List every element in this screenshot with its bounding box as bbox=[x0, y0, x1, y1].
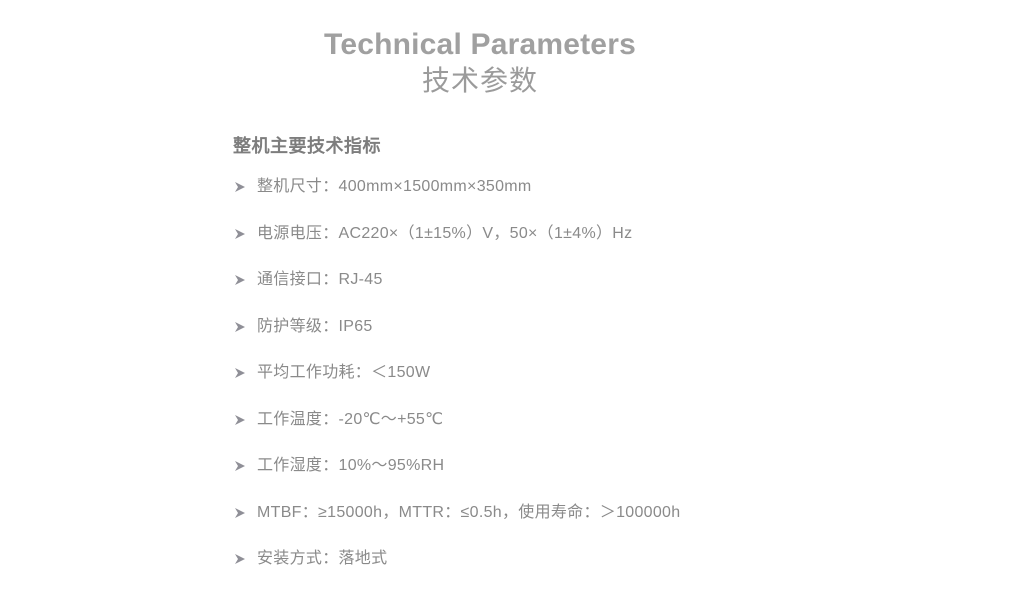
arrowhead-bullet-icon bbox=[233, 176, 257, 194]
list-item: 整机尺寸：400mm×1500mm×350mm bbox=[233, 176, 993, 223]
arrowhead-bullet-icon bbox=[233, 502, 257, 520]
spec-item-text: 工作温度：-20℃～+55℃ bbox=[257, 409, 443, 431]
spec-item-text: MTBF：≥15000h，MTTR：≤0.5h，使用寿命：＞100000h bbox=[257, 502, 680, 524]
list-item: 平均工作功耗：＜150W bbox=[233, 362, 993, 409]
arrowhead-bullet-icon bbox=[233, 548, 257, 566]
spec-item-text: 平均工作功耗：＜150W bbox=[257, 362, 430, 384]
arrowhead-bullet-icon bbox=[233, 409, 257, 427]
spec-list: 整机尺寸：400mm×1500mm×350mm 电源电压：AC220×（1±15… bbox=[233, 176, 993, 595]
arrowhead-bullet-icon bbox=[233, 269, 257, 287]
spec-item-text: 防护等级：IP65 bbox=[257, 316, 373, 338]
arrowhead-bullet-icon bbox=[233, 455, 257, 473]
arrowhead-bullet-icon bbox=[233, 362, 257, 380]
list-item: 防护等级：IP65 bbox=[233, 316, 993, 363]
list-item: MTBF：≥15000h，MTTR：≤0.5h，使用寿命：＞100000h bbox=[233, 502, 993, 549]
spec-item-text: 工作湿度：10%～95%RH bbox=[257, 455, 444, 477]
list-item: 通信接口：RJ-45 bbox=[233, 269, 993, 316]
list-item: 电源电压：AC220×（1±15%）V，50×（1±4%）Hz bbox=[233, 223, 993, 270]
spec-item-text: 整机尺寸：400mm×1500mm×350mm bbox=[257, 176, 532, 198]
spec-document-page: Technical Parameters 技术参数 整机主要技术指标 整机尺寸：… bbox=[0, 0, 1030, 572]
list-item: 工作温度：-20℃～+55℃ bbox=[233, 409, 993, 456]
page-title-block: Technical Parameters 技术参数 bbox=[0, 26, 960, 99]
section-heading: 整机主要技术指标 bbox=[233, 132, 381, 158]
spec-item-text: 电源电压：AC220×（1±15%）V，50×（1±4%）Hz bbox=[257, 223, 632, 245]
list-item: 安装方式：落地式 bbox=[233, 548, 993, 595]
page-title-english: Technical Parameters bbox=[0, 26, 960, 64]
spec-item-text: 安装方式：落地式 bbox=[257, 548, 387, 570]
page-title-chinese: 技术参数 bbox=[0, 63, 960, 99]
list-item: 工作湿度：10%～95%RH bbox=[233, 455, 993, 502]
spec-item-text: 通信接口：RJ-45 bbox=[257, 269, 383, 291]
arrowhead-bullet-icon bbox=[233, 223, 257, 241]
arrowhead-bullet-icon bbox=[233, 316, 257, 334]
